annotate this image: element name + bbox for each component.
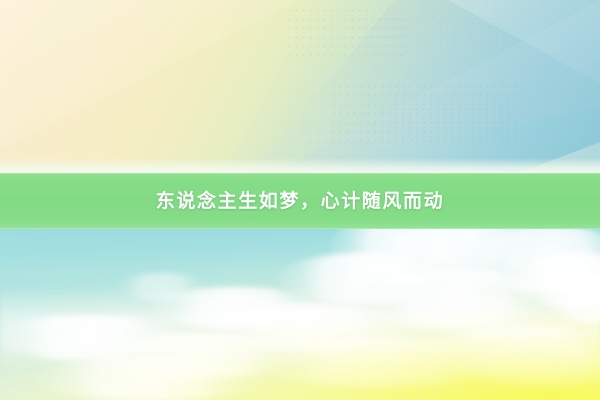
facet-cream-shape [0,0,300,174]
quote-banner-text: 东说念主生如梦，心计随风而动 [156,192,444,211]
dot-matrix-texture [420,0,510,26]
pastel-cloud-sky [0,229,600,400]
dot-matrix-texture [300,120,410,150]
quote-banner: 东说念主生如梦，心计随风而动 [0,173,600,229]
banner-image: 东说念主生如梦，心计随风而动 [0,0,600,400]
sky-yellow-glow [0,280,600,400]
abstract-geometric-header [0,0,600,174]
header-bottom-fade [0,158,600,174]
